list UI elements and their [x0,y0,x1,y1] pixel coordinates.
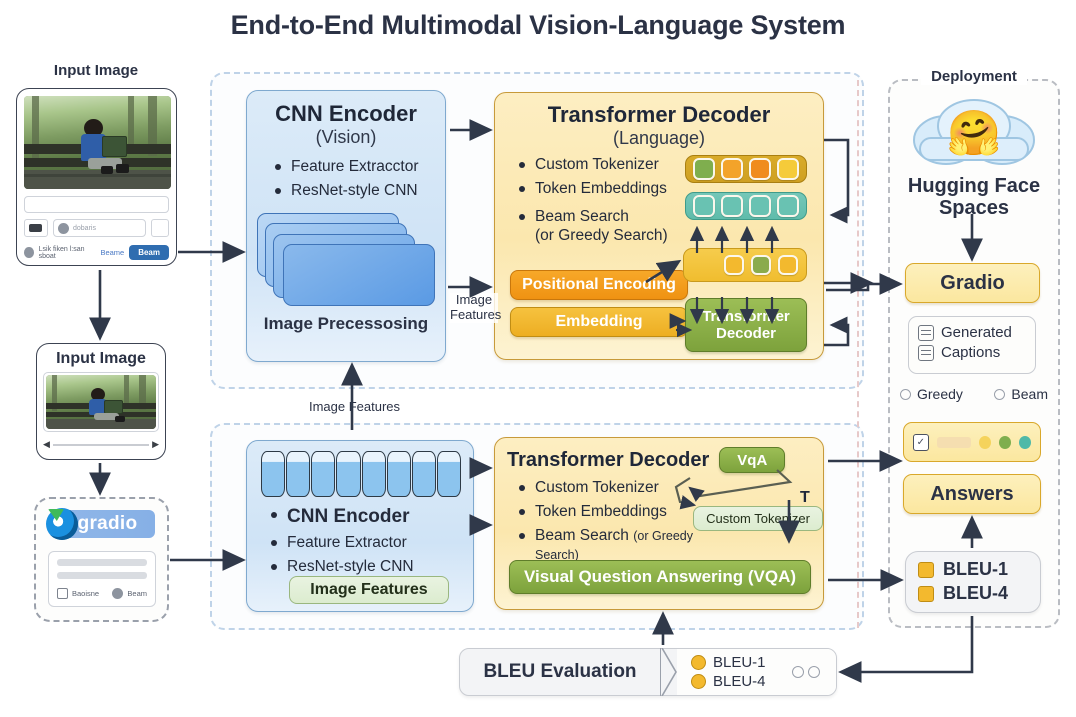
hf-title-line1: Hugging Face [908,175,1040,197]
edge-label-if-line2: Features [450,307,501,322]
token-chip [751,255,771,275]
bleu-swatch [918,562,934,578]
bleu-evaluation-chevron [661,648,677,696]
embedding-pill: Embedding [510,307,688,337]
td-lang-bullet-0: Custom Tokenizer [535,156,659,173]
feature-cylinders-icon [261,451,461,497]
edge-label-image-features-right: Image Features [450,293,498,323]
custom-tokenizer-chip: Custom Tokenizer [693,506,823,531]
beam-label: Beam [1011,386,1048,402]
hf-title-line2: Spaces [939,197,1009,219]
td-lang-bullet-1: Token Embeddings [535,180,667,197]
td-vqa-title: Transformer Decoder [507,449,709,472]
edge-label-image-features-down: Image Features [297,400,412,415]
beam-radio[interactable] [112,588,123,599]
baoisne-checkbox[interactable] [57,588,68,599]
bleu-evaluation-bar: BLEU Evaluation BLEU-1 BLEU-4 [459,648,837,696]
hugging-face-cloud-icon: 🤗 [906,96,1042,168]
td-lang-beam-line1: Beam Search [535,208,629,225]
decoding-mode-radios: Greedy Beam [900,386,1048,402]
t-marker: T [800,489,810,507]
output-widget-bar: ✓ [903,422,1041,462]
cnn-encoder-bottom-bullets: CNN Encoder Feature Extractor ResNet-sty… [259,505,461,577]
bleu-item-0: BLEU-1 [943,559,1008,580]
input-image-thumbnail [46,375,156,429]
token-chip [749,158,771,180]
bleu-eval-item-0: BLEU-1 [713,654,766,671]
bleu-swatch [918,586,934,602]
bleu-eval-item-1: BLEU-4 [713,673,766,690]
widget-placeholder-bar [937,437,972,448]
cnn-encoder-vision-title: CNN Encoder [259,101,433,127]
vqa-badge: VqA [719,447,785,473]
td-language-subtitle: (Language) [507,128,811,149]
td-vqa-bullet-0: Custom Tokenizer [535,479,659,496]
td-vqa-header-row: Transformer Decoder VqA [507,447,811,473]
baoisne-label: Baoisne [72,589,99,598]
td-vqa-beam-main: Beam Search [535,527,629,544]
td-vqa-bullet-1: Token Embeddings [535,503,667,520]
cnn-bottom-bullet-0: CNN Encoder [287,506,409,527]
hugging-face-emoji: 🤗 [947,112,1002,156]
beam-button[interactable]: Beam [129,245,169,260]
cnn-encoder-bottom-card: CNN Encoder Feature Extractor ResNet-sty… [246,440,474,612]
image-features-chip: Image Features [289,576,449,604]
beam-radio[interactable] [994,389,1005,400]
bleu-evaluation-title: BLEU Evaluation [460,661,660,683]
td-lang-beam-line2: (or Greedy Search) [535,227,668,244]
hugging-face-spaces-title: Hugging Face Spaces [890,175,1058,220]
image-processing-footer: Image Precessosing [259,314,433,334]
pipeline-divider [857,80,859,628]
cnn-encoder-vision-card: CNN Encoder (Vision) Feature Extracctor … [246,90,446,362]
bleu-eval-dot [691,674,706,689]
token-chip [777,195,799,217]
beam-radio-label: Beam [127,589,147,598]
vqa-output-bar: Visual Question Answering (VQA) [509,560,811,594]
td-vqa-bullets: Custom Tokenizer Token Embeddings Beam S… [507,478,715,565]
feature-map-stack-icon [257,213,437,308]
bleu-scores-card: BLEU-1 BLEU-4 [905,551,1041,613]
token-row-embeddings [685,192,807,220]
cnn-vision-bullet-1: ResNet-style CNN [291,182,418,199]
image-slider[interactable]: ◀ ▶ [43,439,159,450]
prompt-field[interactable]: dobaris [53,219,146,237]
footer-radio[interactable] [24,247,34,258]
deployment-group-label: Deployment [921,68,1027,85]
page-title: End-to-End Multimodal Vision-Language Sy… [0,10,1076,41]
bleu-eval-dot [691,655,706,670]
footer-link[interactable]: Beame [100,248,124,257]
decoder-block-line1: Transformer [702,308,790,325]
bleu-item-1: BLEU-4 [943,583,1008,604]
token-chip [693,158,715,180]
cnn-vision-bullet-0: Feature Extracctor [291,158,419,175]
positional-encoding-pill: Positional Encoding [510,270,688,300]
token-chip [721,158,743,180]
app-mock-card: dobaris Lsik fiken l:san sboat Beame Bea… [16,88,177,266]
input-image-preview-card: Input Image ◀ ▶ [36,343,166,460]
cnn-bottom-bullet-1: Feature Extractor [287,534,407,551]
token-chip [749,195,771,217]
bleu-eval-radio[interactable] [792,666,804,678]
bleu-eval-radio[interactable] [808,666,820,678]
transformer-decoder-block: Transformer Decoder [685,298,807,352]
prompt-field-text: dobaris [73,225,96,232]
answers-button[interactable]: Answers [903,474,1041,514]
decoder-block-line2: Decoder [716,325,776,342]
transformer-decoder-language-card: Transformer Decoder (Language) Custom To… [494,92,824,360]
document-icon [918,345,934,361]
mock-line-2 [57,572,147,579]
gradio-options-card: Baoisne Beam [48,551,156,607]
token-chip [724,255,744,275]
gradio-logo-mark [46,508,78,540]
prompt-dot [58,223,69,234]
token-row-input [683,248,807,282]
input-photo [24,96,171,189]
widget-dot [999,436,1011,449]
widget-dot [1019,436,1031,449]
gradio-button[interactable]: Gradio [905,263,1040,303]
token-chip [777,158,799,180]
widget-dot [979,436,991,449]
transformer-decoder-vqa-card: Transformer Decoder VqA Custom Tokenizer… [494,437,824,610]
footer-note: Lsik fiken l:san sboat [39,246,96,260]
widget-checkbox[interactable]: ✓ [913,434,929,451]
token-chip [693,195,715,217]
td-language-bullets: Custom Tokenizer Token Embeddings Beam S… [507,155,695,246]
token-row-output [685,155,807,183]
edge-label-if-line1: Image [456,292,492,307]
td-language-title: Transformer Decoder [507,102,811,128]
generated-captions-card: Generated Captions [908,316,1036,374]
generated-line1: Generated [941,324,1012,341]
cnn-encoder-vision-bullets: Feature Extracctor ResNet-style CNN [259,157,433,201]
cnn-bottom-bullet-2: ResNet-style CNN [287,558,414,575]
greedy-radio[interactable] [900,389,911,400]
input-image-label: Input Image [16,62,176,79]
mock-line-1 [57,559,147,566]
generated-line2: Captions [941,344,1000,361]
caption-input[interactable] [24,196,169,213]
extra-toggle[interactable] [151,219,169,237]
greedy-label: Greedy [917,386,963,402]
camera-icon[interactable] [24,219,48,237]
cnn-encoder-vision-subtitle: (Vision) [259,127,433,148]
token-chip [778,255,798,275]
document-icon [918,325,934,341]
token-chip [721,195,743,217]
input-image-card-title: Input Image [43,350,159,368]
